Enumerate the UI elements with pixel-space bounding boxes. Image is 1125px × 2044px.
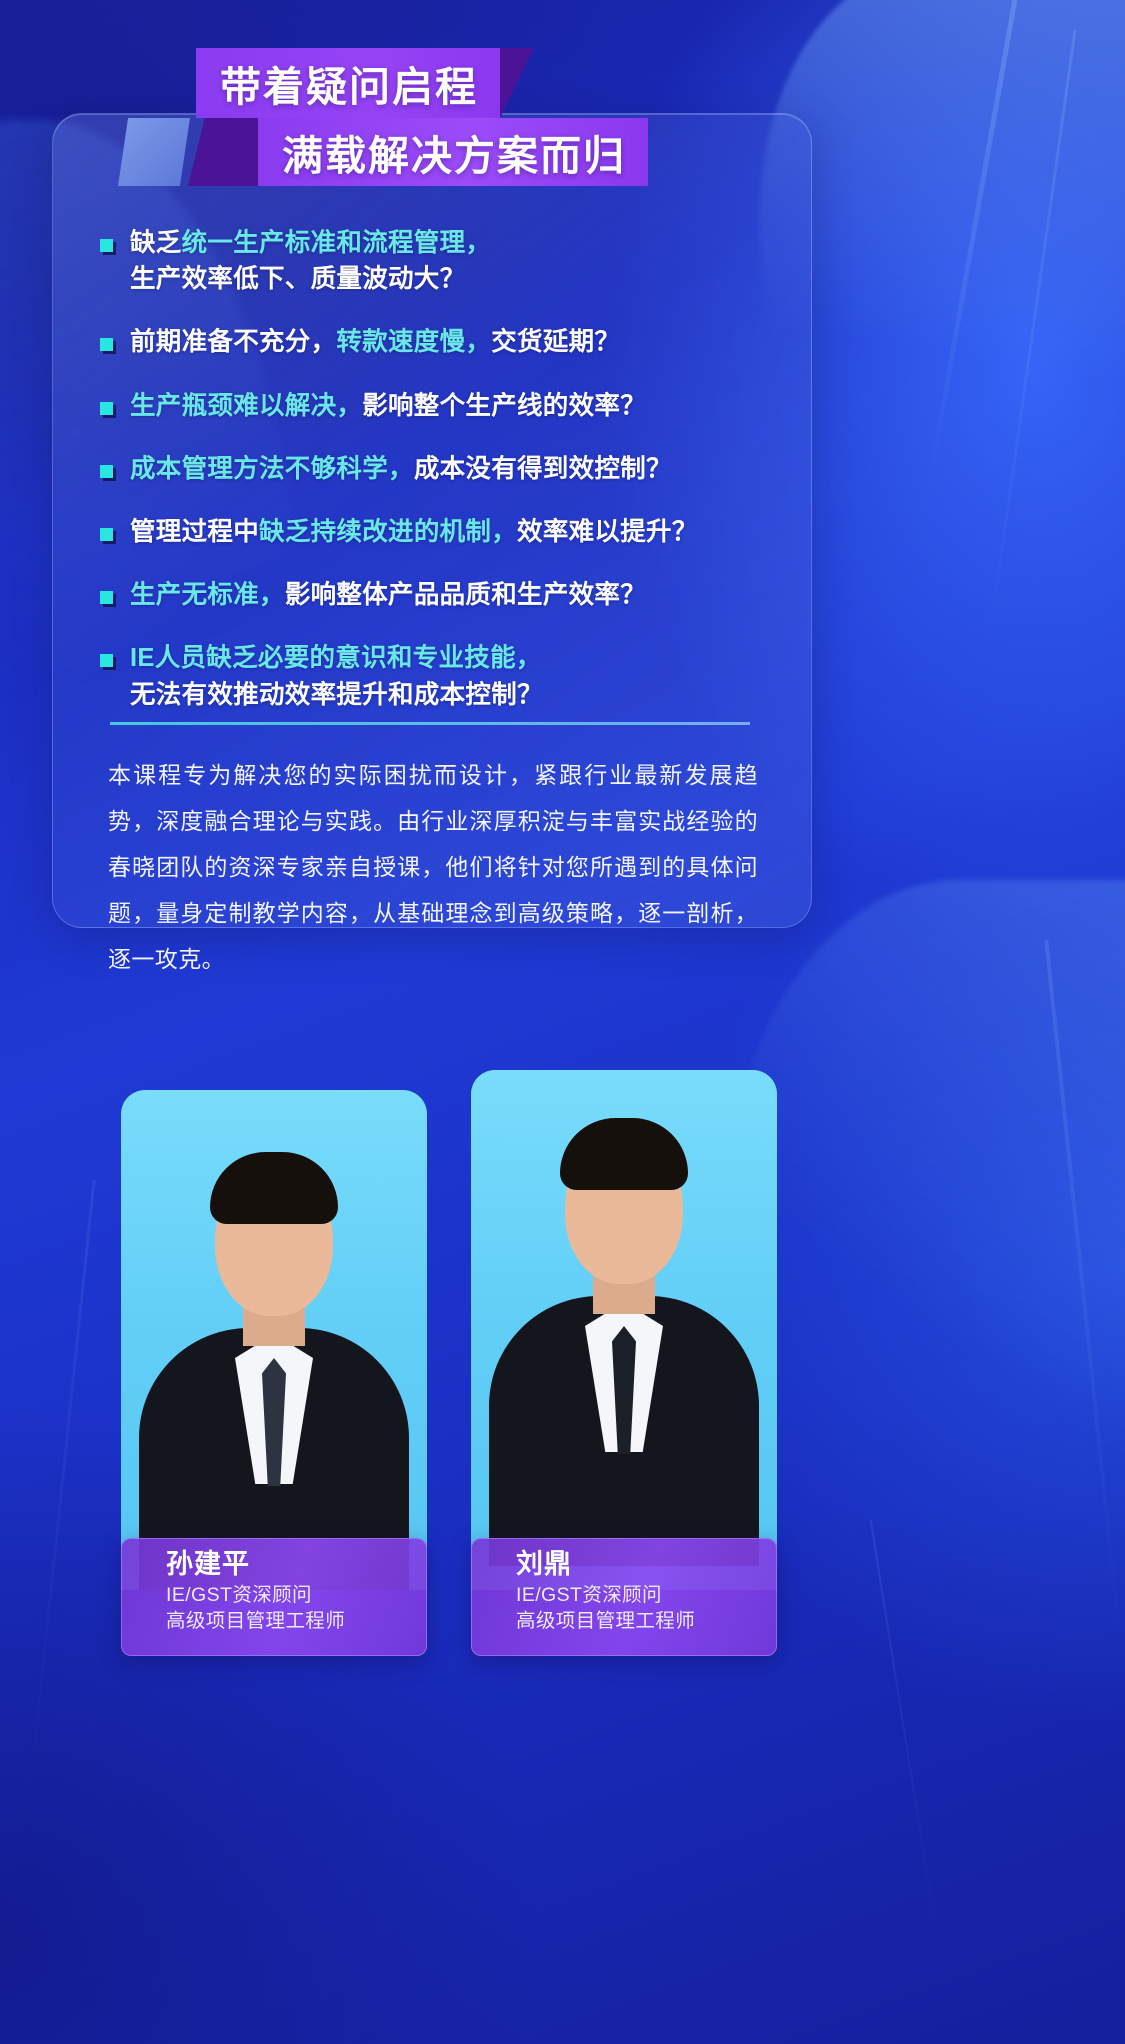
title-banner-group: 带着疑问启程 满载解决方案而归 <box>0 48 1125 188</box>
section-divider <box>110 722 750 725</box>
course-description: 本课程专为解决您的实际困扰而设计，紧跟行业最新发展趋势，深度融合理论与实践。由行… <box>108 752 758 982</box>
instructor-nameplate: 刘鼎 IE/GST资深顾问 高级项目管理工程师 <box>471 1538 777 1656</box>
bullet-square-icon <box>100 402 113 415</box>
bullet-square-icon <box>100 239 113 252</box>
instructor-role-line2: 高级项目管理工程师 <box>516 1608 776 1634</box>
list-item-segment: 生产瓶颈难以解决， <box>130 392 362 420</box>
bullet-square-icon <box>100 338 113 351</box>
portrait-hair <box>210 1152 338 1224</box>
title-line1-text: 带着疑问启程 <box>220 53 478 113</box>
list-item: 前期准备不充分，转款速度慢，交货延期？ <box>100 324 790 360</box>
list-item-text: 管理过程中缺乏持续改进的机制，效率难以提升？ <box>130 514 698 550</box>
list-item-segment: IE人员缺乏必要的意识和专业技能， <box>130 644 542 672</box>
list-item-segment: 成本管理方法不够科学， <box>130 455 414 483</box>
instructor-card[interactable]: 刘鼎 IE/GST资深顾问 高级项目管理工程师 <box>471 1070 777 1630</box>
bullet-square-icon <box>100 528 113 541</box>
bullet-square-icon <box>100 591 113 604</box>
portrait-hair <box>560 1118 688 1190</box>
list-item-segment: 无法有效推动效率提升和成本控制？ <box>130 681 543 709</box>
list-item-text: 成本管理方法不够科学，成本没有得到效控制？ <box>130 451 672 487</box>
list-item-segment: 管理过程中 <box>130 518 259 546</box>
list-item: 生产无标准，影响整体产品品质和生产效率？ <box>100 577 790 613</box>
list-item-segment: 影响整个生产线的效率？ <box>362 392 646 420</box>
bullet-square-icon <box>100 465 113 478</box>
title-banner-line2: 满载解决方案而归 <box>258 118 648 186</box>
list-item: IE人员缺乏必要的意识和专业技能，无法有效推动效率提升和成本控制？ <box>100 640 790 712</box>
list-item: 缺乏统一生产标准和流程管理，生产效率低下、质量波动大？ <box>100 225 790 297</box>
instructor-name: 刘鼎 <box>516 1548 776 1582</box>
list-item-segment: 生产无标准， <box>130 581 285 609</box>
instructor-card[interactable]: 孙建平 IE/GST资深顾问 高级项目管理工程师 <box>121 1090 427 1650</box>
list-item: 管理过程中缺乏持续改进的机制，效率难以提升？ <box>100 514 790 550</box>
list-item-segment: 效率难以提升？ <box>517 518 698 546</box>
list-item: 成本管理方法不够科学，成本没有得到效控制？ <box>100 451 790 487</box>
list-item-segment: 交货延期？ <box>491 328 620 356</box>
instructor-nameplate: 孙建平 IE/GST资深顾问 高级项目管理工程师 <box>121 1538 427 1656</box>
list-item-segment: 成本没有得到效控制？ <box>414 455 672 483</box>
list-item-segment: 生产效率低下、质量波动大？ <box>130 265 465 293</box>
list-item-segment: 前期准备不充分， <box>130 328 336 356</box>
instructor-role-line1: IE/GST资深顾问 <box>516 1582 776 1608</box>
list-item-segment: 统一生产标准和流程管理， <box>182 229 492 257</box>
list-item-text: 前期准备不充分，转款速度慢，交货延期？ <box>130 324 620 360</box>
instructor-photo <box>121 1090 427 1590</box>
bullet-square-icon <box>100 654 113 667</box>
list-item-text: IE人员缺乏必要的意识和专业技能，无法有效推动效率提升和成本控制？ <box>130 640 543 712</box>
instructor-role-line1: IE/GST资深顾问 <box>166 1582 426 1608</box>
instructor-role-line2: 高级项目管理工程师 <box>166 1608 426 1634</box>
title-line2-text: 满载解决方案而归 <box>282 122 626 182</box>
instructor-group: 孙建平 IE/GST资深顾问 高级项目管理工程师 刘鼎 IE/GST资深顾问 高… <box>0 1070 1125 2044</box>
list-item-text: 缺乏统一生产标准和流程管理，生产效率低下、质量波动大？ <box>130 225 491 297</box>
pain-point-list: 缺乏统一生产标准和流程管理，生产效率低下、质量波动大？前期准备不充分，转款速度慢… <box>100 225 790 713</box>
instructor-name: 孙建平 <box>166 1548 426 1582</box>
list-item-text: 生产瓶颈难以解决，影响整个生产线的效率？ <box>130 388 646 424</box>
list-item: 生产瓶颈难以解决，影响整个生产线的效率？ <box>100 388 790 424</box>
list-item-text: 生产无标准，影响整体产品品质和生产效率？ <box>130 577 646 613</box>
list-item-segment: 缺乏 <box>130 229 182 257</box>
title-banner-line1: 带着疑问启程 <box>196 48 500 118</box>
list-item-segment: 影响整体产品品质和生产效率？ <box>285 581 646 609</box>
instructor-photo <box>471 1070 777 1590</box>
list-item-segment: 缺乏持续改进的机制， <box>259 518 517 546</box>
list-item-segment: 转款速度慢， <box>336 328 491 356</box>
